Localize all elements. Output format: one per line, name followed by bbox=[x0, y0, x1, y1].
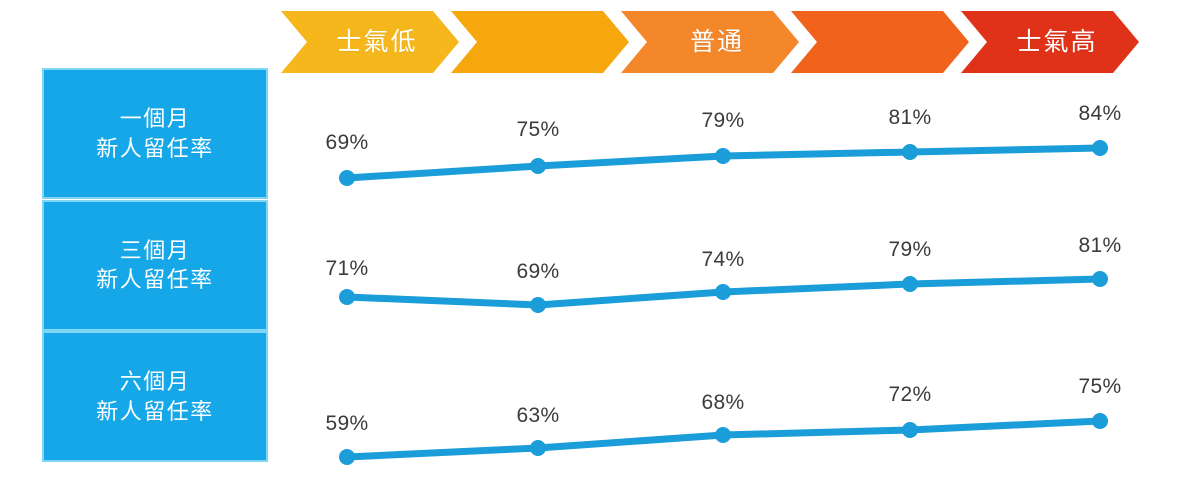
data-point-marker[interactable] bbox=[339, 449, 355, 465]
data-point-value-label: 59% bbox=[326, 412, 369, 436]
funnel-segment-label: 普通 bbox=[676, 30, 744, 55]
data-point-marker[interactable] bbox=[339, 170, 355, 186]
data-point-value-label: 71% bbox=[326, 257, 369, 281]
data-point-value-label: 79% bbox=[702, 109, 745, 133]
data-point-value-label: 75% bbox=[1079, 375, 1122, 399]
row-label-metric: 新人留任率 bbox=[96, 134, 214, 163]
data-point-value-label: 68% bbox=[702, 391, 745, 415]
data-point-value-label: 79% bbox=[889, 238, 932, 262]
funnel-segment-label: 士氣高 bbox=[1002, 30, 1097, 55]
series-group-1 bbox=[339, 140, 1108, 186]
data-point-marker[interactable] bbox=[1092, 271, 1108, 287]
data-point-value-label: 63% bbox=[517, 404, 560, 428]
row-label-period: 六個月 bbox=[120, 367, 191, 396]
data-point-marker[interactable] bbox=[530, 158, 546, 174]
row-label-panel-1[interactable]: 一個月新人留任率 bbox=[42, 68, 268, 199]
infographic-root: 士氣低普通士氣高 一個月新人留任率三個月新人留任率六個月新人留任率 69%75%… bbox=[0, 0, 1200, 493]
data-point-marker[interactable] bbox=[902, 422, 918, 438]
row-label-metric: 新人留任率 bbox=[96, 265, 214, 294]
series-group-3 bbox=[339, 413, 1108, 465]
funnel-segment-2[interactable] bbox=[451, 11, 629, 73]
funnel-segment-5[interactable]: 士氣高 bbox=[961, 11, 1139, 73]
data-point-value-label: 81% bbox=[889, 106, 932, 130]
row-label-metric: 新人留任率 bbox=[96, 397, 214, 426]
data-point-value-label: 75% bbox=[517, 118, 560, 142]
data-point-marker[interactable] bbox=[902, 144, 918, 160]
funnel-segment-1[interactable]: 士氣低 bbox=[281, 11, 459, 73]
series-line bbox=[347, 279, 1100, 305]
data-point-marker[interactable] bbox=[715, 427, 731, 443]
data-point-value-label: 74% bbox=[702, 248, 745, 272]
data-point-marker[interactable] bbox=[902, 276, 918, 292]
row-label-period: 三個月 bbox=[120, 236, 191, 265]
row-label-period: 一個月 bbox=[120, 104, 191, 133]
data-point-marker[interactable] bbox=[530, 440, 546, 456]
series-line bbox=[347, 421, 1100, 457]
data-point-value-label: 72% bbox=[889, 383, 932, 407]
data-point-marker[interactable] bbox=[1092, 413, 1108, 429]
row-label-panel-2[interactable]: 三個月新人留任率 bbox=[42, 200, 268, 331]
row-label-panel-3[interactable]: 六個月新人留任率 bbox=[42, 331, 268, 462]
row-label-sidebar: 一個月新人留任率三個月新人留任率六個月新人留任率 bbox=[42, 68, 268, 462]
data-point-value-label: 69% bbox=[326, 131, 369, 155]
morale-funnel-band: 士氣低普通士氣高 bbox=[281, 11, 1139, 73]
data-point-value-label: 81% bbox=[1079, 234, 1122, 258]
data-point-marker[interactable] bbox=[1092, 140, 1108, 156]
funnel-segment-3[interactable]: 普通 bbox=[621, 11, 799, 73]
series-line bbox=[347, 148, 1100, 178]
data-point-marker[interactable] bbox=[715, 148, 731, 164]
funnel-segment-label: 士氣低 bbox=[322, 30, 417, 55]
funnel-segment-4[interactable] bbox=[791, 11, 969, 73]
data-point-marker[interactable] bbox=[530, 297, 546, 313]
data-point-value-label: 84% bbox=[1079, 102, 1122, 126]
series-group-2 bbox=[339, 271, 1108, 313]
data-point-value-label: 69% bbox=[517, 260, 560, 284]
data-point-marker[interactable] bbox=[715, 284, 731, 300]
data-point-marker[interactable] bbox=[339, 289, 355, 305]
